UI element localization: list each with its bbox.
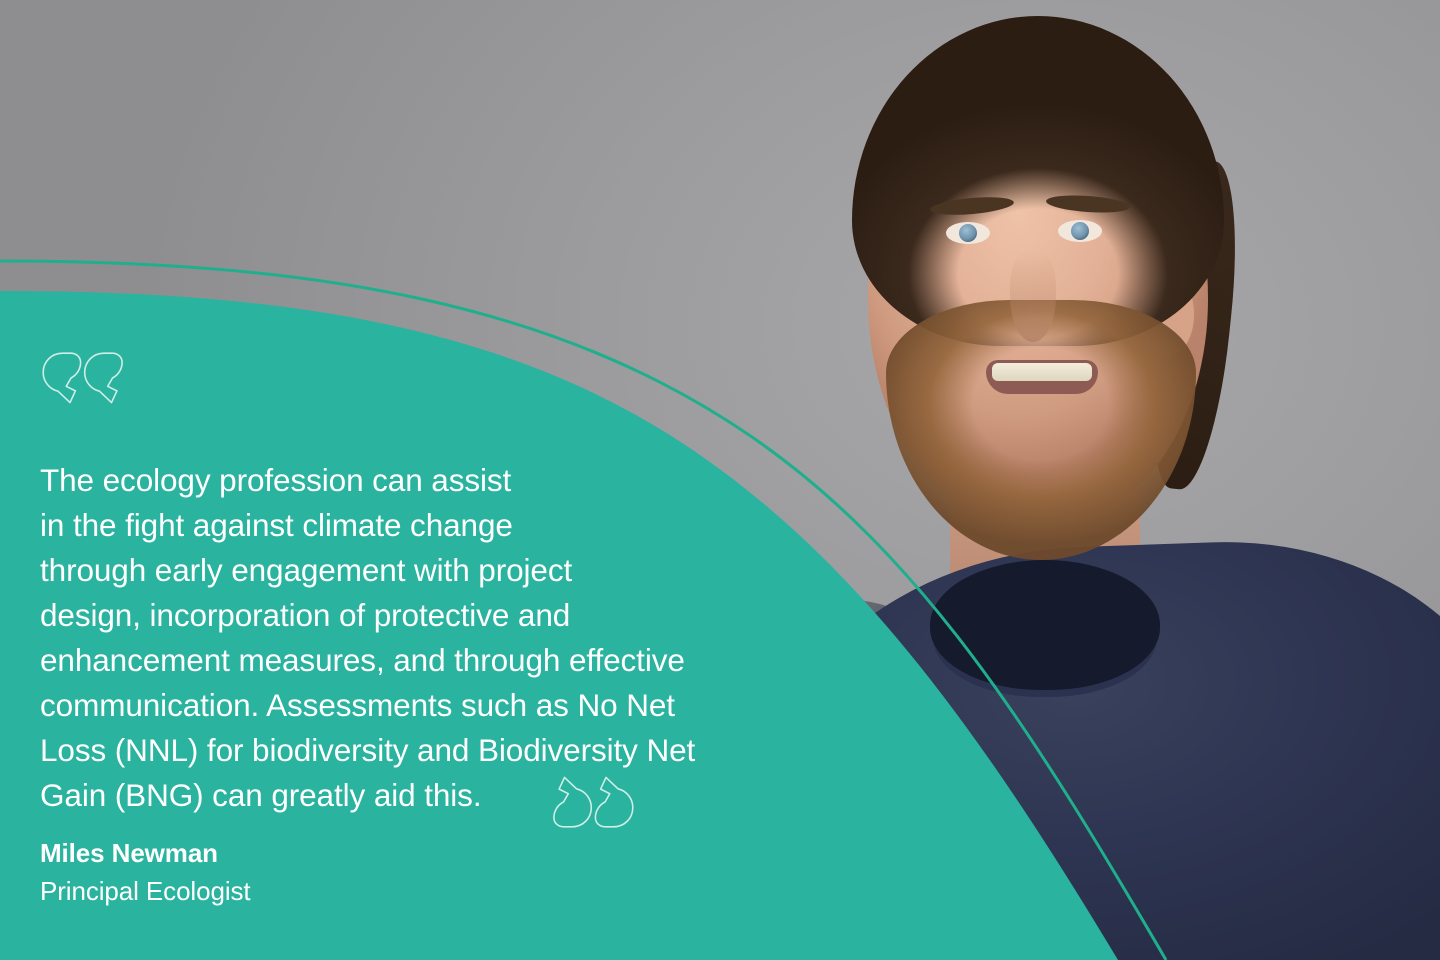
quote-line: through early engagement with project	[40, 548, 850, 593]
attribution: Miles Newman Principal Ecologist	[40, 836, 251, 908]
quote-line: Gain (BNG) can greatly aid this.	[40, 773, 850, 818]
quote-block: The ecology profession can assist in the…	[40, 352, 850, 818]
quote-line: enhancement measures, and through effect…	[40, 638, 850, 683]
attribution-name: Miles Newman	[40, 836, 251, 870]
quote-line: design, incorporation of protective and	[40, 593, 850, 638]
quote-line: The ecology profession can assist	[40, 458, 850, 503]
quote-close-icon	[552, 776, 634, 828]
quote-card: The ecology profession can assist in the…	[0, 0, 1440, 960]
quote-line: in the fight against climate change	[40, 503, 850, 548]
quote-line: Loss (NNL) for biodiversity and Biodiver…	[40, 728, 850, 773]
quote-text: The ecology profession can assist in the…	[40, 458, 850, 818]
quote-line: communication. Assessments such as No Ne…	[40, 683, 850, 728]
quote-open-icon	[42, 352, 124, 404]
attribution-role: Principal Ecologist	[40, 874, 251, 908]
